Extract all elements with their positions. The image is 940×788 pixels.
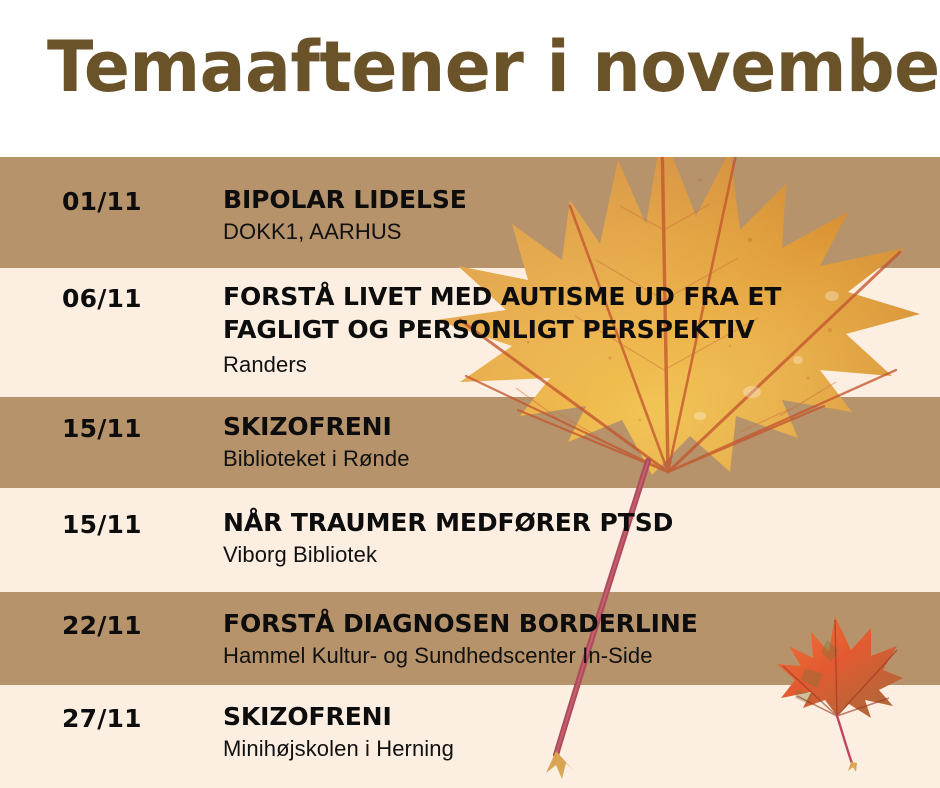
- event-body-2: FORSTÅ LIVET MED AUTISME UD FRA ET FAGLI…: [223, 280, 930, 379]
- event-body-4: NÅR TRAUMER MEDFØRER PTSD Viborg Bibliot…: [223, 506, 930, 569]
- event-venue-1: DOKK1, AARHUS: [223, 218, 930, 246]
- event-date-2: 06/11: [62, 284, 142, 313]
- event-row-3[interactable]: 15/11 SKIZOFRENI Biblioteket i Rønde: [0, 397, 940, 488]
- event-venue-5: Hammel Kultur- og Sundhedscenter In-Side: [223, 642, 930, 670]
- event-title-2-line-1: FORSTÅ LIVET MED AUTISME UD FRA ET: [223, 280, 930, 313]
- event-date-6: 27/11: [62, 704, 142, 733]
- event-row-5[interactable]: 22/11 FORSTÅ DIAGNOSEN BORDERLINE Hammel…: [0, 592, 940, 685]
- event-body-5: FORSTÅ DIAGNOSEN BORDERLINE Hammel Kultu…: [223, 607, 930, 670]
- event-date-4: 15/11: [62, 510, 142, 539]
- event-date-5: 22/11: [62, 611, 142, 640]
- page-title: Temaaftener i november: [47, 26, 940, 108]
- event-date-1: 01/11: [62, 187, 142, 216]
- poster-header: Temaaftener i november: [0, 0, 940, 157]
- event-row-2[interactable]: 06/11 FORSTÅ LIVET MED AUTISME UD FRA ET…: [0, 268, 940, 397]
- event-title-6: SKIZOFRENI: [223, 700, 930, 733]
- event-venue-6: Minihøjskolen i Herning: [223, 735, 930, 763]
- event-row-1[interactable]: 01/11 BIPOLAR LIDELSE DOKK1, AARHUS: [0, 157, 940, 268]
- event-title-4: NÅR TRAUMER MEDFØRER PTSD: [223, 506, 930, 539]
- poster-canvas: 01/11 BIPOLAR LIDELSE DOKK1, AARHUS 06/1…: [0, 0, 940, 788]
- event-venue-3: Biblioteket i Rønde: [223, 445, 930, 473]
- event-title-5: FORSTÅ DIAGNOSEN BORDERLINE: [223, 607, 930, 640]
- event-row-6[interactable]: 27/11 SKIZOFRENI Minihøjskolen i Herning: [0, 685, 940, 788]
- event-body-6: SKIZOFRENI Minihøjskolen i Herning: [223, 700, 930, 763]
- event-date-3: 15/11: [62, 414, 142, 443]
- event-body-3: SKIZOFRENI Biblioteket i Rønde: [223, 410, 930, 473]
- event-venue-2: Randers: [223, 351, 930, 379]
- event-venue-4: Viborg Bibliotek: [223, 541, 930, 569]
- event-body-1: BIPOLAR LIDELSE DOKK1, AARHUS: [223, 183, 930, 246]
- event-row-4[interactable]: 15/11 NÅR TRAUMER MEDFØRER PTSD Viborg B…: [0, 488, 940, 592]
- event-title-2-line-2: FAGLIGT OG PERSONLIGT PERSPEKTIV: [223, 313, 930, 346]
- event-title-3: SKIZOFRENI: [223, 410, 930, 443]
- event-title-1: BIPOLAR LIDELSE: [223, 183, 930, 216]
